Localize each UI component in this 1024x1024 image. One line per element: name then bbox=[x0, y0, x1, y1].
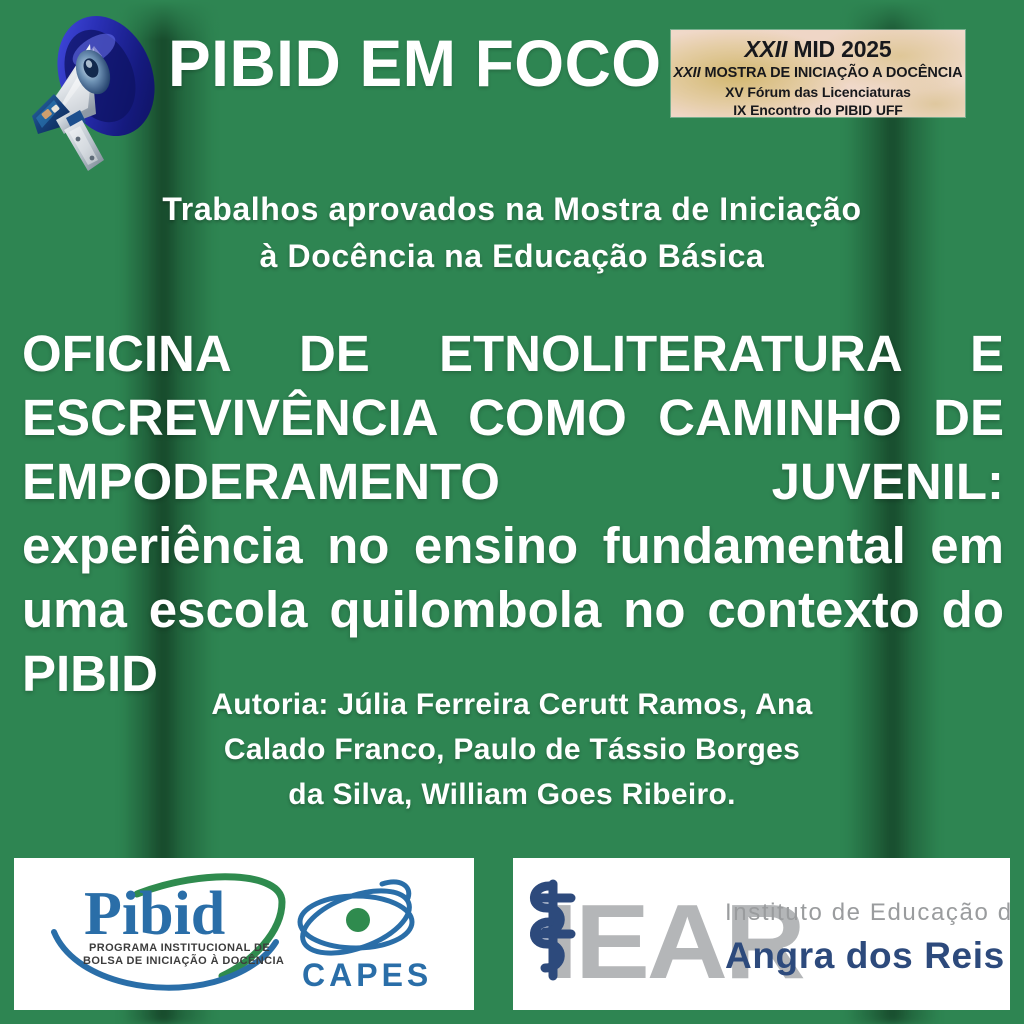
poster-subtitle: Trabalhos aprovados na Mostra de Iniciaç… bbox=[0, 186, 1024, 280]
event-banner-line1-roman: XXII bbox=[745, 36, 788, 62]
event-banner-line2: XXII MOSTRA DE INICIAÇÃO A DOCÊNCIA bbox=[674, 64, 963, 83]
iear-line2: Angra dos Reis bbox=[725, 935, 1005, 976]
event-banner-line3: XV Fórum das Licenciaturas bbox=[725, 83, 911, 101]
iear-logo: IEAR Instituto de Educação de Angra dos … bbox=[513, 858, 1010, 1010]
event-banner-line1: XXII MID 2025 bbox=[745, 36, 892, 62]
megaphone-icon bbox=[8, 8, 168, 173]
event-banner: XXII MID 2025 XXII MOSTRA DE INICIAÇÃO A… bbox=[671, 30, 965, 117]
capes-atom-icon bbox=[294, 878, 417, 965]
iear-line1: Instituto de Educação de bbox=[725, 899, 1010, 926]
pibid-tagline-line2: BOLSA DE INICIAÇÃO À DOCÊNCIA bbox=[83, 954, 284, 967]
pibid-wordmark: Pibid bbox=[84, 880, 225, 948]
logo-box-pibid-capes: Pibid PROGRAMA INSTITUCIONAL DE BOLSA DE… bbox=[14, 858, 474, 1010]
event-banner-line2-rest: MOSTRA DE INICIAÇÃO A DOCÊNCIA bbox=[701, 65, 963, 81]
event-banner-line1-rest: MID 2025 bbox=[787, 36, 891, 62]
subtitle-line-1: Trabalhos aprovados na Mostra de Iniciaç… bbox=[0, 186, 1024, 233]
poster-canvas: PIBID EM FOCO XXII MID 2025 XXII MOSTRA … bbox=[0, 0, 1024, 1024]
pibid-tagline-line1: PROGRAMA INSTITUCIONAL DE bbox=[89, 942, 270, 954]
brand-title: PIBID EM FOCO bbox=[168, 28, 662, 98]
poster-header: PIBID EM FOCO XXII MID 2025 XXII MOSTRA … bbox=[0, 0, 1024, 150]
event-banner-line4: IX Encontro do PIBID UFF bbox=[733, 101, 902, 117]
event-banner-line2-roman: XXII bbox=[674, 65, 701, 81]
subtitle-line-2: à Docência na Educação Básica bbox=[0, 233, 1024, 280]
capes-wordmark: CAPES bbox=[302, 957, 432, 993]
logo-box-iear: IEAR Instituto de Educação de Angra dos … bbox=[513, 858, 1010, 1010]
work-authors: Autoria: Júlia Ferreira Cerutt Ramos, An… bbox=[205, 682, 819, 817]
pibid-capes-logo: Pibid PROGRAMA INSTITUCIONAL DE BOLSA DE… bbox=[14, 858, 474, 1010]
